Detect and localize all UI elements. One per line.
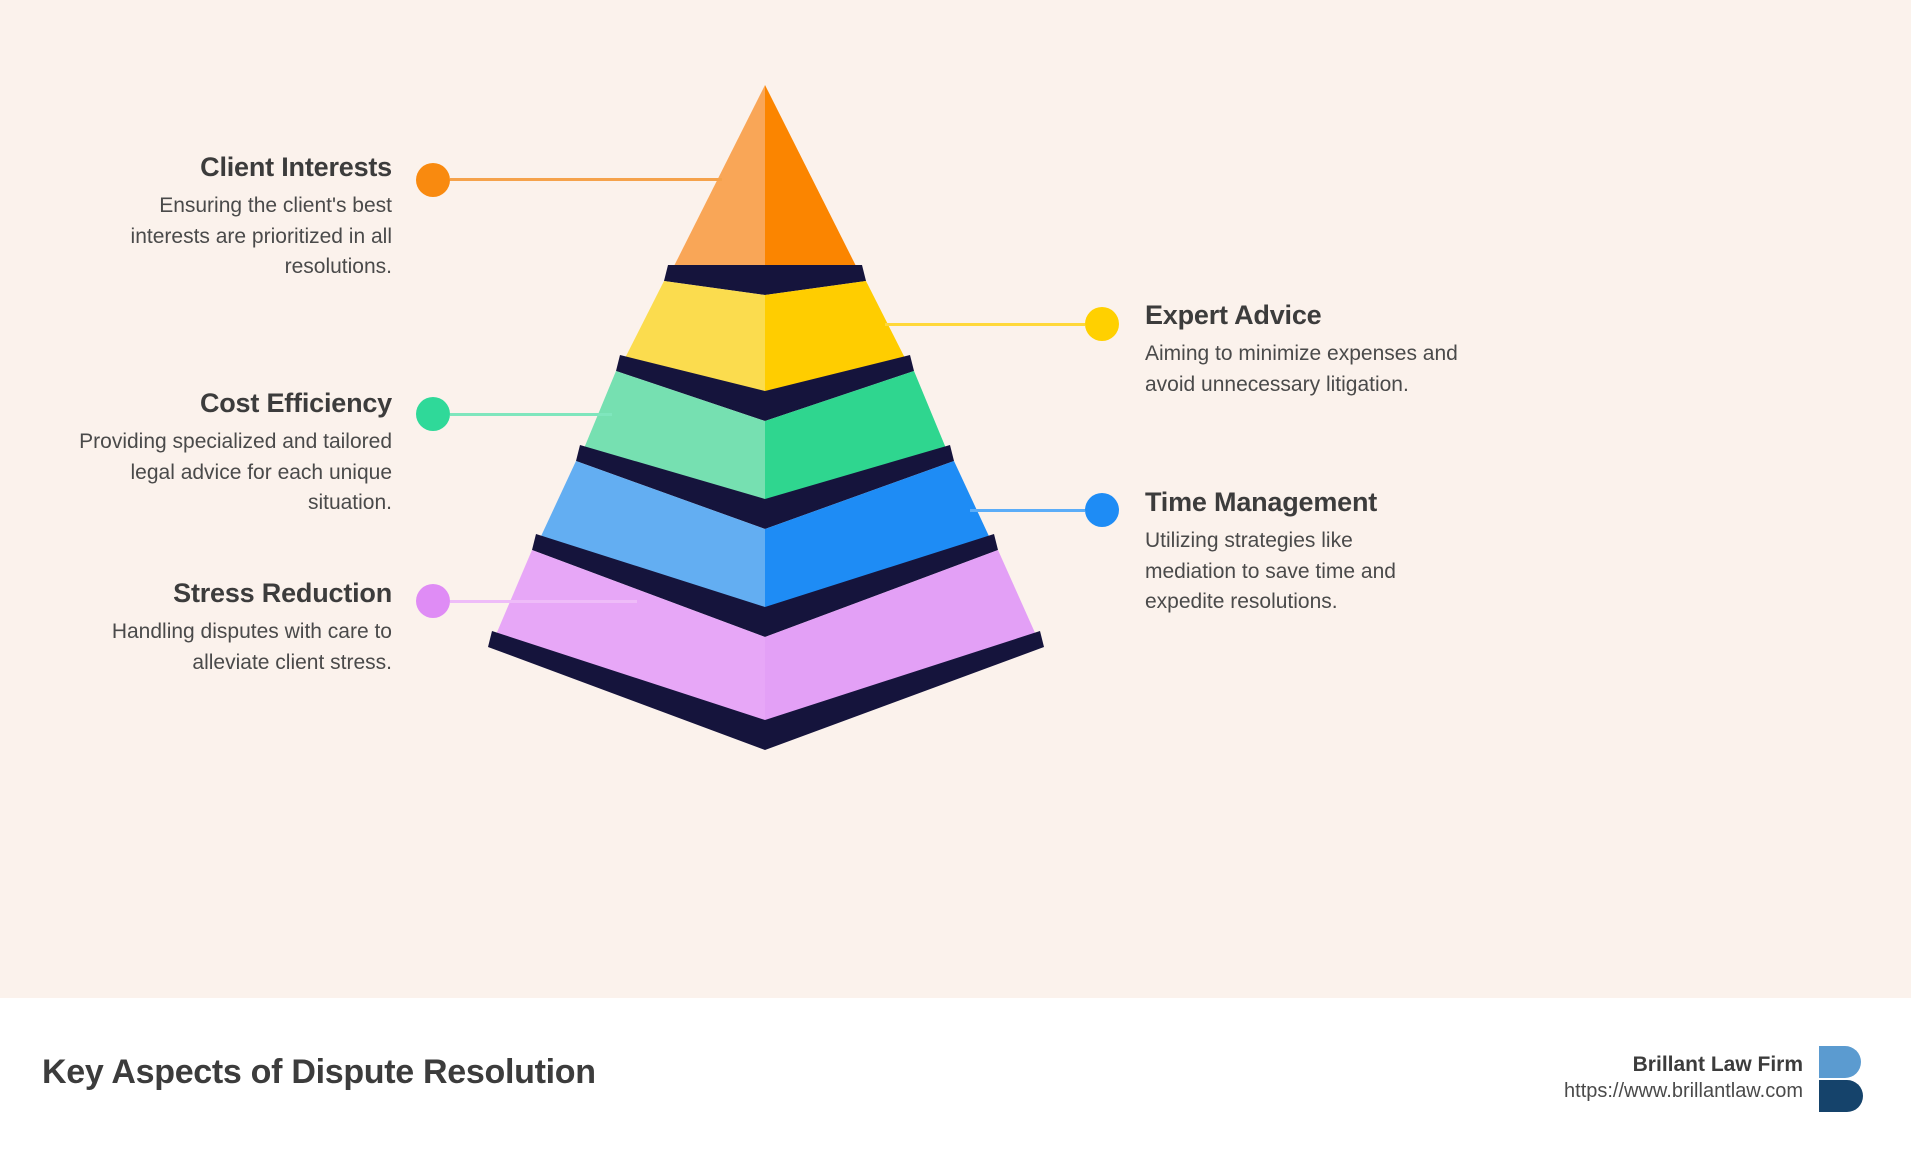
callout-title: Time Management [1145, 487, 1445, 518]
dot-stress-reduction[interactable] [416, 584, 450, 618]
callout-description: Providing specialized and tailored legal… [62, 427, 392, 519]
callout-time-management: Time Management Utilizing strategies lik… [1145, 487, 1445, 618]
brand-text: Brillant Law Firm https://www.brillantla… [1564, 1051, 1803, 1105]
connector-expert-advice [885, 323, 1085, 326]
callout-description: Ensuring the client's best interests are… [82, 191, 392, 283]
connector-cost-efficiency [450, 413, 612, 416]
tier-1-left-face [668, 85, 765, 278]
footer-bar: Key Aspects of Dispute Resolution Brilla… [0, 998, 1911, 1160]
dot-client-interests[interactable] [416, 163, 450, 197]
brand-url[interactable]: https://www.brillantlaw.com [1564, 1078, 1803, 1105]
brand-block: Brillant Law Firm https://www.brillantla… [1564, 1044, 1869, 1112]
callout-stress-reduction: Stress Reduction Handling disputes with … [62, 578, 392, 678]
logo-bottom-lobe [1819, 1080, 1863, 1112]
connector-client-interests [450, 178, 722, 181]
callout-description: Handling disputes with care to alleviate… [62, 617, 392, 678]
callout-title: Client Interests [82, 152, 392, 183]
pyramid-tier-1 [664, 85, 866, 295]
dot-expert-advice[interactable] [1085, 307, 1119, 341]
infographic-canvas: Client Interests Ensuring the client's b… [0, 0, 1911, 1160]
tier-1-right-face [765, 85, 862, 278]
diagram-stage: Client Interests Ensuring the client's b… [0, 0, 1911, 998]
brillant-law-b-logo-icon [1817, 1044, 1869, 1112]
logo-top-lobe [1819, 1046, 1861, 1078]
dot-time-management[interactable] [1085, 493, 1119, 527]
brand-name: Brillant Law Firm [1564, 1051, 1803, 1078]
page-title: Key Aspects of Dispute Resolution [42, 1053, 596, 1092]
callout-description: Utilizing strategies like mediation to s… [1145, 526, 1445, 618]
callout-description: Aiming to minimize expenses and avoid un… [1145, 339, 1480, 400]
callout-cost-efficiency: Cost Efficiency Providing specialized an… [62, 388, 392, 519]
callout-expert-advice: Expert Advice Aiming to minimize expense… [1145, 300, 1480, 400]
callout-title: Expert Advice [1145, 300, 1480, 331]
connector-time-management [970, 509, 1085, 512]
callout-title: Stress Reduction [62, 578, 392, 609]
connector-stress-reduction [450, 600, 637, 603]
callout-title: Cost Efficiency [62, 388, 392, 419]
dot-cost-efficiency[interactable] [416, 397, 450, 431]
callout-client-interests: Client Interests Ensuring the client's b… [82, 152, 392, 283]
